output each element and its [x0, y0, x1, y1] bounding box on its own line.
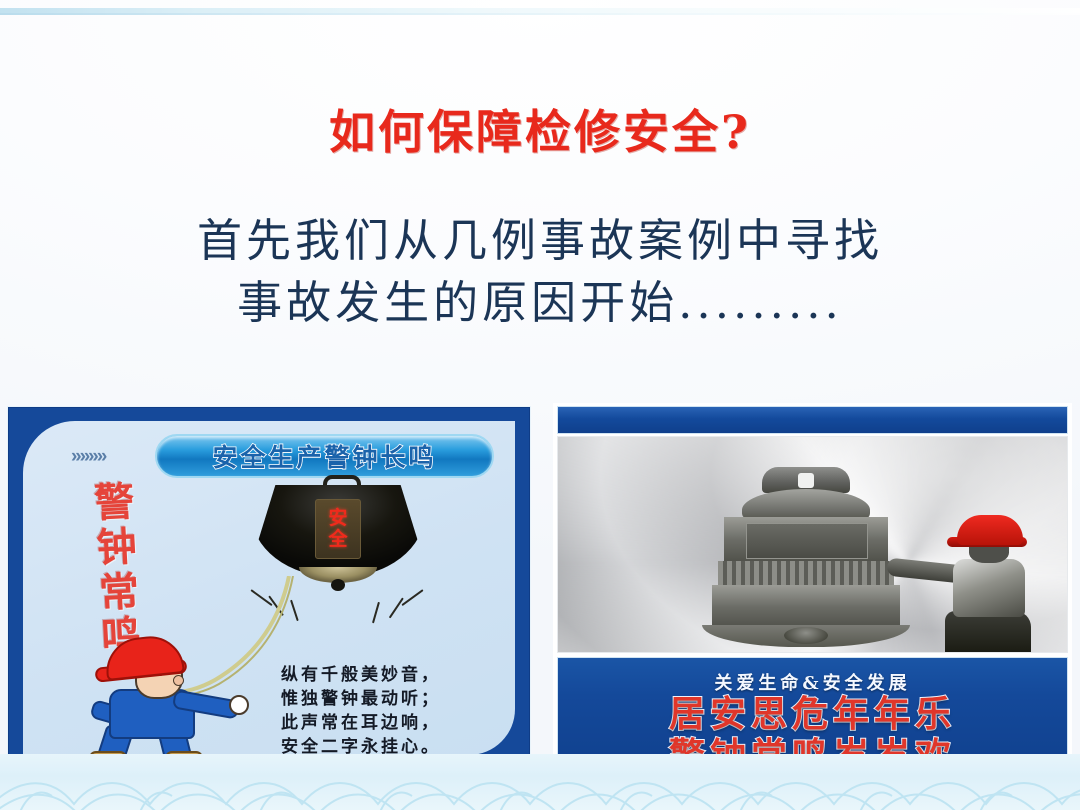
bell-shoulder	[742, 489, 870, 519]
bottom-wave-decoration	[0, 754, 1080, 810]
bell-inscription-panel	[746, 523, 868, 559]
worker-nose	[173, 675, 184, 686]
left-poster-inner-panel: »»»» 安全生产警钟长鸣 警 钟 常 鸣 安 全	[23, 421, 515, 755]
left-poster-poem: 纵有千般美妙音， 惟独警钟最动听； 此声常在耳边响， 安全二字永挂心。	[281, 663, 441, 760]
slide-canvas: 如何保障检修安全? 首先我们从几例事故案例中寻找 事故发生的原因开始......…	[0, 0, 1080, 810]
right-safety-poster-image: 关爱生命&安全发展 居安思危年年乐 警钟常鸣岁岁欢 NO:20120416164…	[553, 403, 1072, 788]
poem-line-3: 此声常在耳边响，	[281, 711, 441, 735]
sound-ray	[389, 597, 404, 618]
right-poster-top-bar	[557, 406, 1068, 434]
worker-red-helmet-icon	[103, 633, 185, 681]
bell-illustration-icon: 安 全	[245, 473, 431, 598]
sound-ray	[290, 600, 299, 622]
photo-worker-red-helmet-icon	[957, 515, 1023, 545]
right-poster-photo-area	[557, 436, 1068, 653]
bell-band-lower	[712, 585, 900, 629]
bell-band-middle	[718, 561, 894, 587]
left-safety-poster-image: »»»» 安全生产警钟长鸣 警 钟 常 鸣 安 全	[8, 407, 530, 790]
slogan-line-1: 居安思危年年乐	[558, 694, 1067, 736]
left-poster-banner: 安全生产警钟长鸣	[155, 434, 494, 478]
vertical-char-3: 常	[85, 569, 153, 617]
poem-line-1: 纵有千般美妙音，	[281, 663, 441, 687]
page-title: 如何保障检修安全?	[0, 96, 1080, 162]
vertical-char-1: 警	[80, 479, 148, 527]
bell-strike-point	[784, 627, 828, 644]
subtitle-line-1: 首先我们从几例事故案例中寻找	[197, 214, 883, 267]
worker-photo-illustration	[913, 515, 1045, 653]
poem-line-2: 惟独警钟最动听；	[281, 687, 441, 711]
top-decorative-rule-secondary	[0, 13, 1080, 15]
wave-pattern-icon	[0, 754, 1080, 810]
bell-label-char-2: 全	[328, 530, 347, 549]
page-subtitle: 首先我们从几例事故案例中寻找 事故发生的原因开始.........	[0, 210, 1080, 334]
cartoon-worker-illustration	[69, 633, 259, 761]
vertical-char-2: 钟	[83, 524, 151, 572]
bell-clapper	[331, 579, 345, 591]
subtitle-line-2: 事故发生的原因开始.........	[0, 272, 1080, 334]
left-poster-banner-label: 安全生产警钟长鸣	[212, 438, 436, 474]
sound-ray	[401, 589, 423, 606]
photo-worker-legs	[945, 611, 1031, 653]
chevron-arrows-icon: »»»»	[71, 446, 105, 468]
right-poster-headline: 关爱生命&安全发展	[558, 669, 1067, 695]
bell-label-char-1: 安	[328, 509, 347, 528]
photo-worker-torso	[953, 559, 1025, 617]
bell-safety-plate: 安 全	[315, 499, 361, 559]
ancient-bell-photo-icon	[686, 467, 926, 639]
worker-hand	[229, 695, 249, 715]
sound-ray	[372, 602, 380, 624]
